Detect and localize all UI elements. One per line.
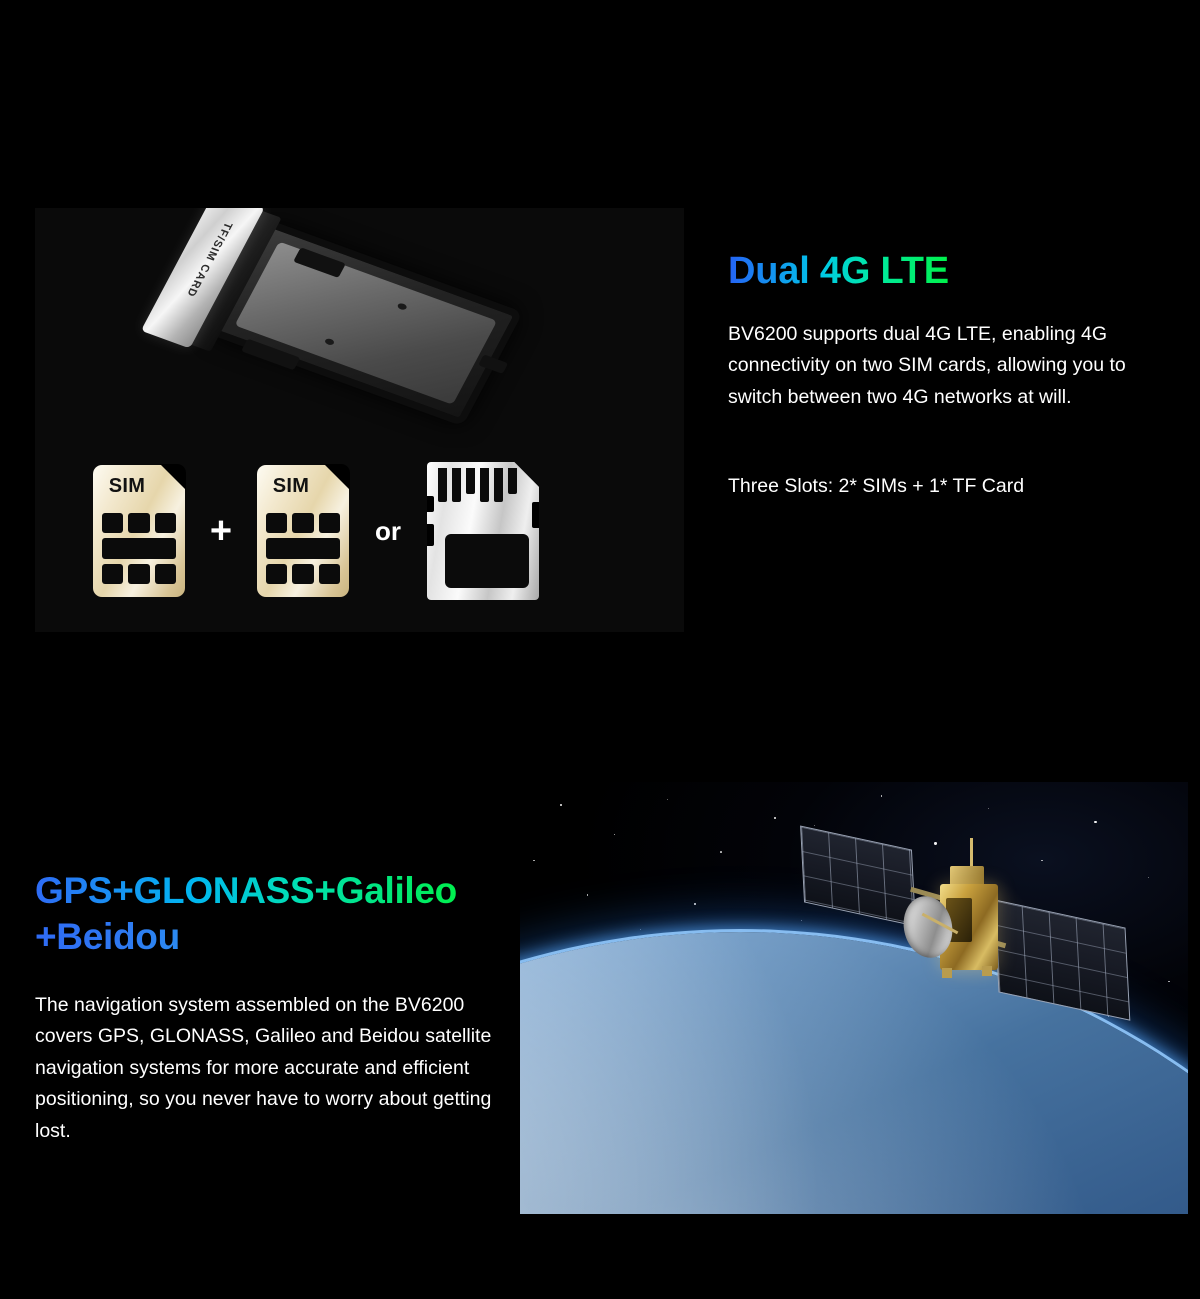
- tf-card-window: [445, 534, 529, 588]
- gps-body: The navigation system assembled on the B…: [35, 990, 495, 1148]
- tf-card-pins: [438, 468, 517, 502]
- sim-tray-image: TF/SIM CARD SIM + SIM: [35, 208, 684, 632]
- or-operator: or: [349, 516, 427, 547]
- solar-panel-right: [994, 899, 1131, 1021]
- dual-4g-copy: Dual 4G LTE BV6200 supports dual 4G LTE,…: [728, 250, 1168, 498]
- gps-navigation-section: GPS+GLONASS+Galileo +Beidou The navigati…: [0, 740, 1200, 1299]
- dual-4g-lte-section: TF/SIM CARD SIM + SIM: [0, 0, 1200, 740]
- gps-headline-line-2: +Beidou: [35, 914, 180, 960]
- dual-4g-body: BV6200 supports dual 4G LTE, enabling 4G…: [728, 319, 1168, 414]
- card-combination-row: SIM + SIM: [93, 456, 653, 606]
- tf-card-icon: [427, 462, 539, 600]
- sim-contacts: [266, 513, 340, 584]
- gps-headline: GPS+GLONASS+Galileo +Beidou: [35, 868, 495, 960]
- solar-panel-left: [800, 825, 916, 926]
- sim-tray-illustration: TF/SIM CARD: [165, 218, 545, 448]
- sim-contacts: [102, 513, 176, 584]
- three-slots-line: Three Slots: 2* SIMs + 1* TF Card: [728, 475, 1168, 498]
- tray-window: [235, 242, 498, 405]
- sim-card-icon-1: SIM: [93, 465, 185, 597]
- dual-4g-headline: Dual 4G LTE: [728, 250, 949, 293]
- sim-card-label-1: SIM: [93, 475, 161, 498]
- plus-operator: +: [185, 512, 257, 550]
- sim-card-icon-2: SIM: [257, 465, 349, 597]
- gps-copy: GPS+GLONASS+Galileo +Beidou The navigati…: [35, 868, 495, 1148]
- satellite-icon: [800, 830, 1130, 1070]
- gps-headline-line-1: GPS+GLONASS+Galileo: [35, 868, 457, 914]
- sim-card-label-2: SIM: [257, 475, 325, 498]
- satellite-image: [520, 782, 1188, 1214]
- tray-clip: [478, 354, 508, 374]
